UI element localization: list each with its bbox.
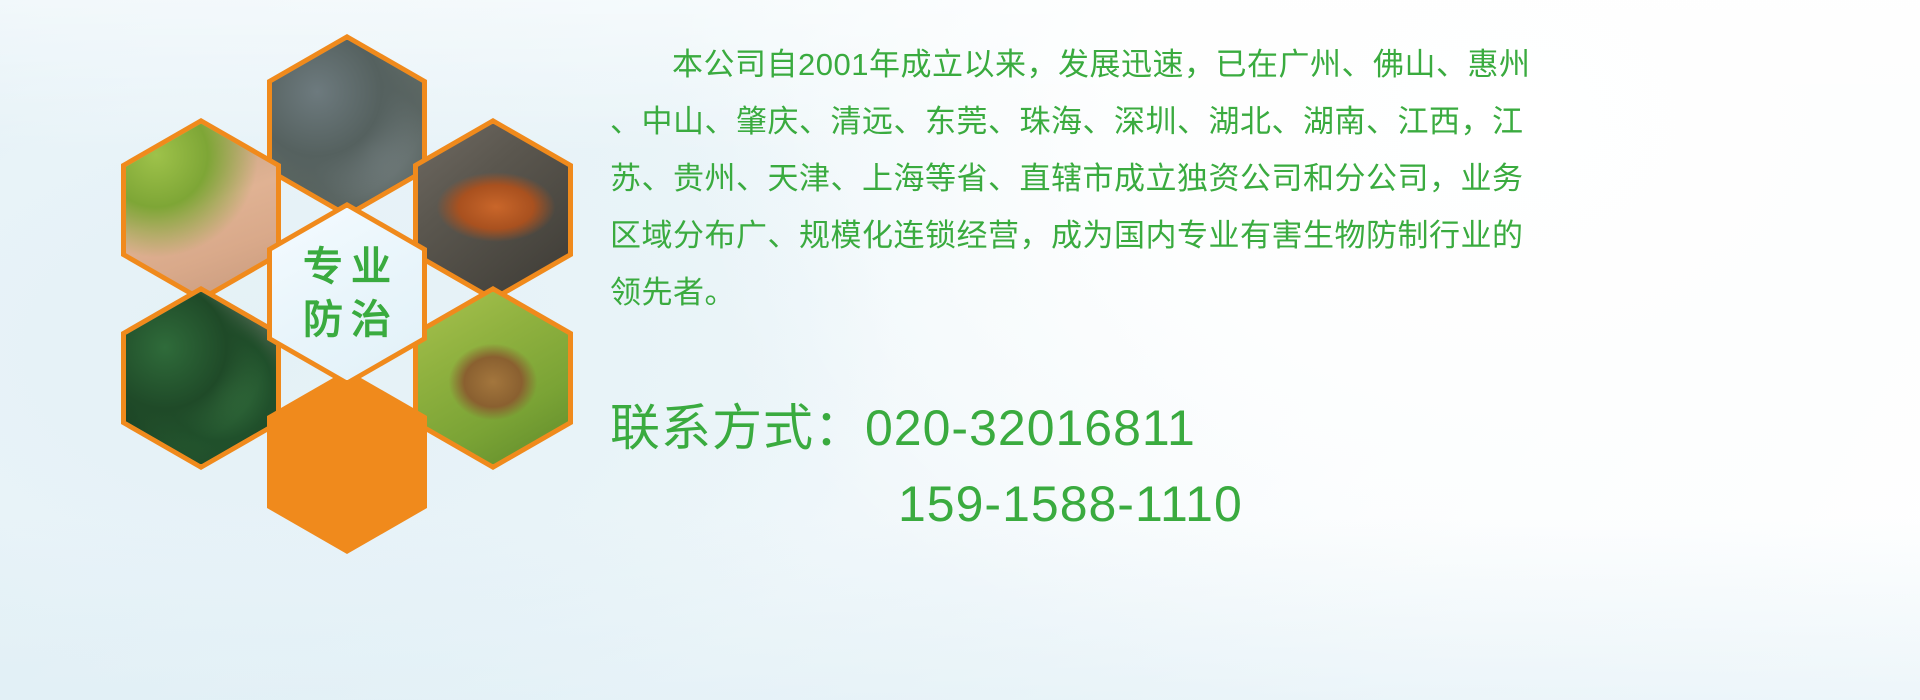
contact-phone-secondary[interactable]: 159-1588-1110 bbox=[610, 466, 1900, 542]
intro-line-5: 领先者。 bbox=[610, 264, 1900, 321]
contact-phone-primary[interactable]: 联系方式：020-32016811 bbox=[610, 390, 1900, 466]
hex-inner-ant bbox=[272, 376, 422, 549]
hex-inner-stinkbug bbox=[418, 292, 568, 465]
rats-photo bbox=[272, 40, 422, 213]
hex-cell-flies bbox=[121, 286, 281, 470]
cockroach-photo bbox=[418, 124, 568, 297]
flies-photo bbox=[126, 292, 276, 465]
company-intro-paragraph: 本公司自2001年成立以来，发展迅速，已在广州、佛山、惠州 、中山、肇庆、清远、… bbox=[610, 36, 1900, 321]
hex-cell-stinkbug bbox=[413, 286, 573, 470]
promo-banner: 专业 防治 本公司自2001年成立以来，发展迅速，已在广州、佛山、惠州 、中山、… bbox=[0, 0, 1920, 700]
center-label-line1: 专业 bbox=[295, 245, 399, 290]
intro-line-4: 区域分布广、规模化连锁经营，成为国内专业有害生物防制行业的 bbox=[610, 207, 1900, 264]
center-label-line2: 防治 bbox=[295, 298, 399, 343]
content-column: 本公司自2001年成立以来，发展迅速，已在广州、佛山、惠州 、中山、肇庆、清远、… bbox=[610, 0, 1900, 700]
intro-line-2: 、中山、肇庆、清远、东莞、珠海、深圳、湖北、湖南、江西，江 bbox=[610, 93, 1900, 150]
intro-line-3: 苏、贵州、天津、上海等省、直辖市成立独资公司和分公司，业务 bbox=[610, 150, 1900, 207]
contact-block: 联系方式：020-32016811 159-1588-1110 bbox=[610, 390, 1900, 542]
mosquito-photo bbox=[126, 124, 276, 297]
honeycomb-center-label: 专业 防治 bbox=[267, 202, 427, 386]
hex-inner-rats bbox=[272, 40, 422, 213]
honeycomb-collage: 专业 防治 bbox=[95, 10, 595, 570]
ant-photo bbox=[272, 376, 422, 549]
hex-cell-mosquito bbox=[121, 118, 281, 302]
hex-cell-cockroach bbox=[413, 118, 573, 302]
stinkbug-photo bbox=[418, 292, 568, 465]
intro-line-1: 本公司自2001年成立以来，发展迅速，已在广州、佛山、惠州 bbox=[610, 36, 1900, 93]
hex-cell-ant bbox=[267, 370, 427, 554]
hex-inner-flies bbox=[126, 292, 276, 465]
hex-inner-mosquito bbox=[126, 124, 276, 297]
hex-cell-rats bbox=[267, 34, 427, 218]
hex-inner-cockroach bbox=[418, 124, 568, 297]
